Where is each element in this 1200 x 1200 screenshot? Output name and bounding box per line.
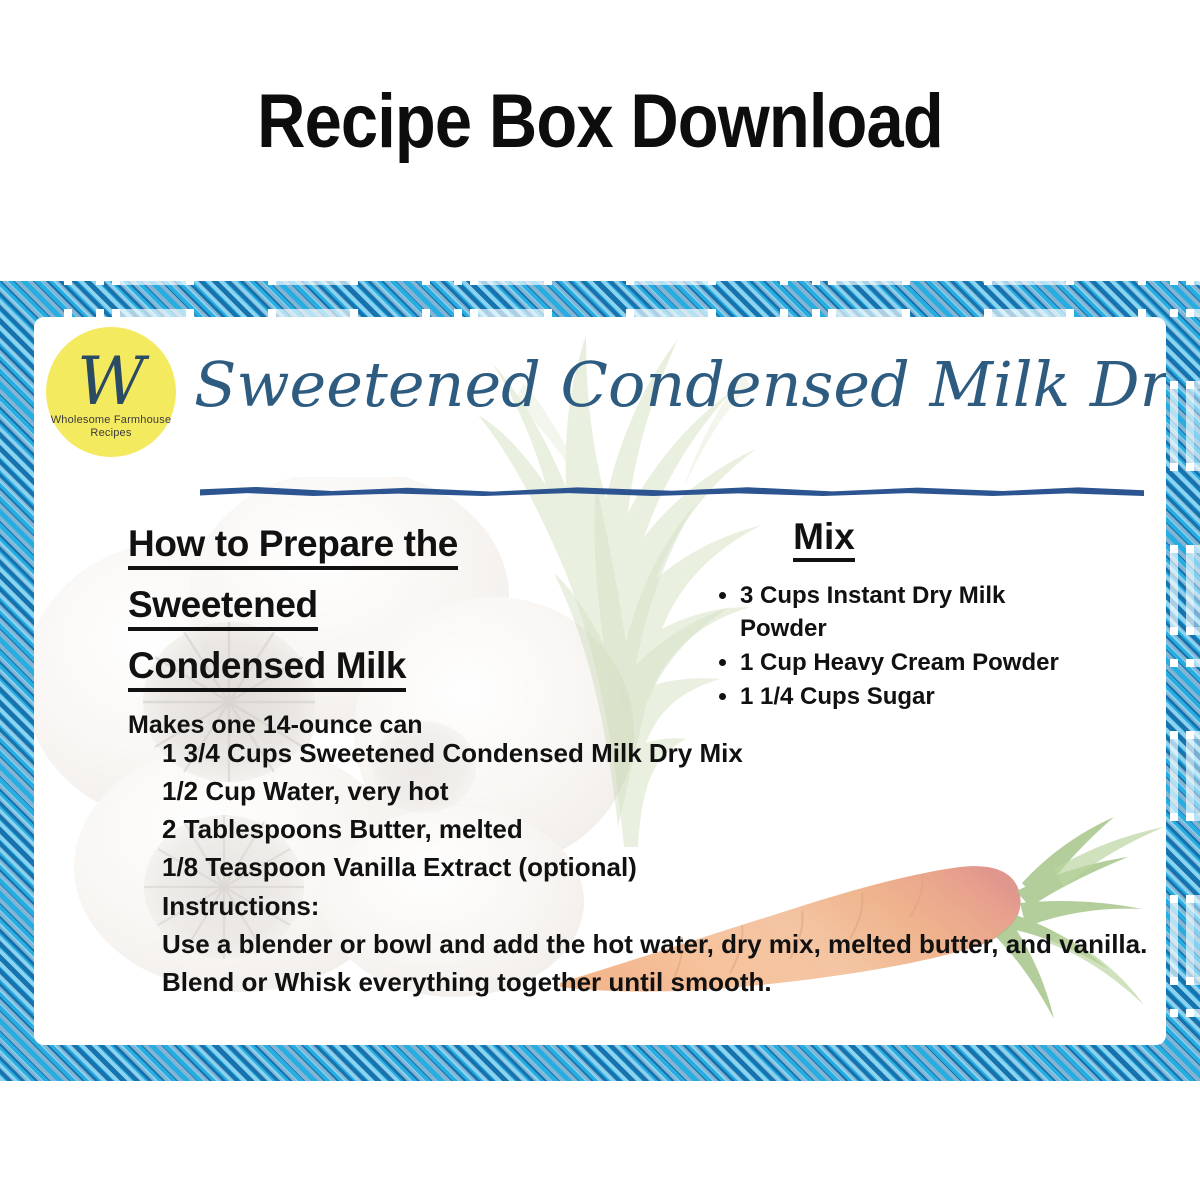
list-item: Use a blender or bowl and add the hot wa… [162,925,1166,963]
page-title: Recipe Box Download [72,76,1128,168]
prepare-heading: How to Prepare the Sweetened Condensed M… [128,513,488,696]
instructions-label: Instructions: [162,887,1166,925]
prepare-section: How to Prepare the Sweetened Condensed M… [128,513,488,740]
mix-heading-text: Mix [793,516,855,562]
list-item: Blend or Whisk everything together until… [162,963,1166,1001]
title-brush-underline [200,485,1144,496]
list-item: 1 Cup Heavy Cream Powder [740,646,1094,679]
recipe-title: Sweetened Condensed Milk Dry Mix [194,339,1144,431]
instructions-block: Instructions: Use a blender or bowl and … [162,887,1166,1001]
prepare-heading-text: How to Prepare the Sweetened Condensed M… [128,523,458,692]
list-item: 1/2 Cup Water, very hot [162,772,922,810]
logo-monogram-w: W [77,354,145,410]
list-item: 1 1/4 Cups Sugar [740,680,1094,713]
list-item: 1 3/4 Cups Sweetened Condensed Milk Dry … [162,734,922,772]
recipe-card: W Wholesome Farmhouse Recipes Sweetened … [0,281,1200,1081]
ingredient-list: 1 3/4 Cups Sweetened Condensed Milk Dry … [162,734,922,886]
card-surface: W Wholesome Farmhouse Recipes Sweetened … [34,317,1166,1045]
list-item: 2 Tablespoons Butter, melted [162,810,922,848]
mix-ingredient-list: 3 Cups Instant Dry Milk Powder 1 Cup Hea… [716,579,1094,713]
brand-logo: W Wholesome Farmhouse Recipes [46,327,176,457]
mix-section: Mix 3 Cups Instant Dry Milk Powder 1 Cup… [674,513,1094,714]
list-item: 1/8 Teaspoon Vanilla Extract (optional) [162,848,922,886]
list-item: 3 Cups Instant Dry Milk Powder [740,579,1094,645]
logo-line-2: Recipes [90,427,131,440]
mix-heading: Mix [674,513,974,561]
logo-line-1: Wholesome Farmhouse [51,414,172,427]
